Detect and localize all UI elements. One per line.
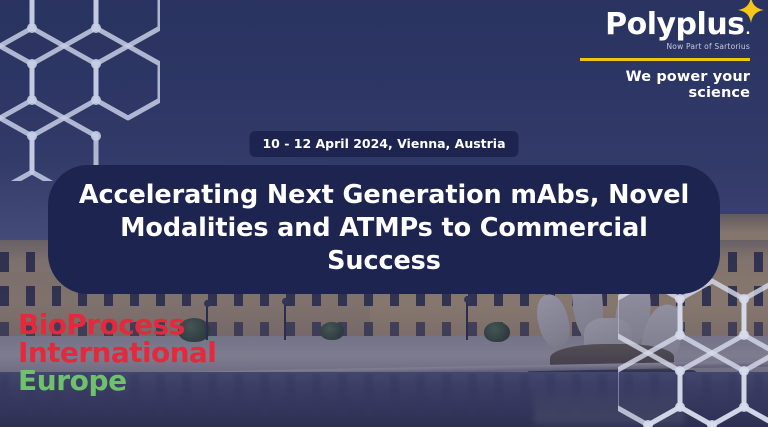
polyplus-wordmark: Polyplus. xyxy=(605,10,750,40)
bpi-logo-line-3: Europe xyxy=(18,368,216,394)
bpi-logo-line-2: International xyxy=(18,340,216,366)
event-banner: Polyplus. Now Part of Sartorius We power… xyxy=(0,0,768,427)
polyplus-tagline: We power your science xyxy=(568,69,750,101)
headline-line-1: Accelerating Next Generation mAbs, Novel xyxy=(74,179,694,212)
bioprocess-international-europe-logo[interactable]: BioProcess International Europe xyxy=(18,312,216,394)
headline-panel: Accelerating Next Generation mAbs, Novel… xyxy=(48,165,720,294)
polyplus-subtitle: Now Part of Sartorius xyxy=(568,42,750,51)
polyplus-registered-mark: . xyxy=(746,24,750,37)
bpi-logo-line-1: BioProcess xyxy=(18,312,216,338)
polyplus-wordmark-text: Polyplus xyxy=(605,7,744,42)
headline-line-2: Modalities and ATMPs to Commercial Succe… xyxy=(74,212,694,278)
four-point-star-icon xyxy=(738,0,764,23)
polyplus-yellow-rule xyxy=(580,58,750,61)
event-date-location-badge: 10 - 12 April 2024, Vienna, Austria xyxy=(249,131,518,157)
polyplus-logo[interactable]: Polyplus. Now Part of Sartorius We power… xyxy=(568,10,750,101)
